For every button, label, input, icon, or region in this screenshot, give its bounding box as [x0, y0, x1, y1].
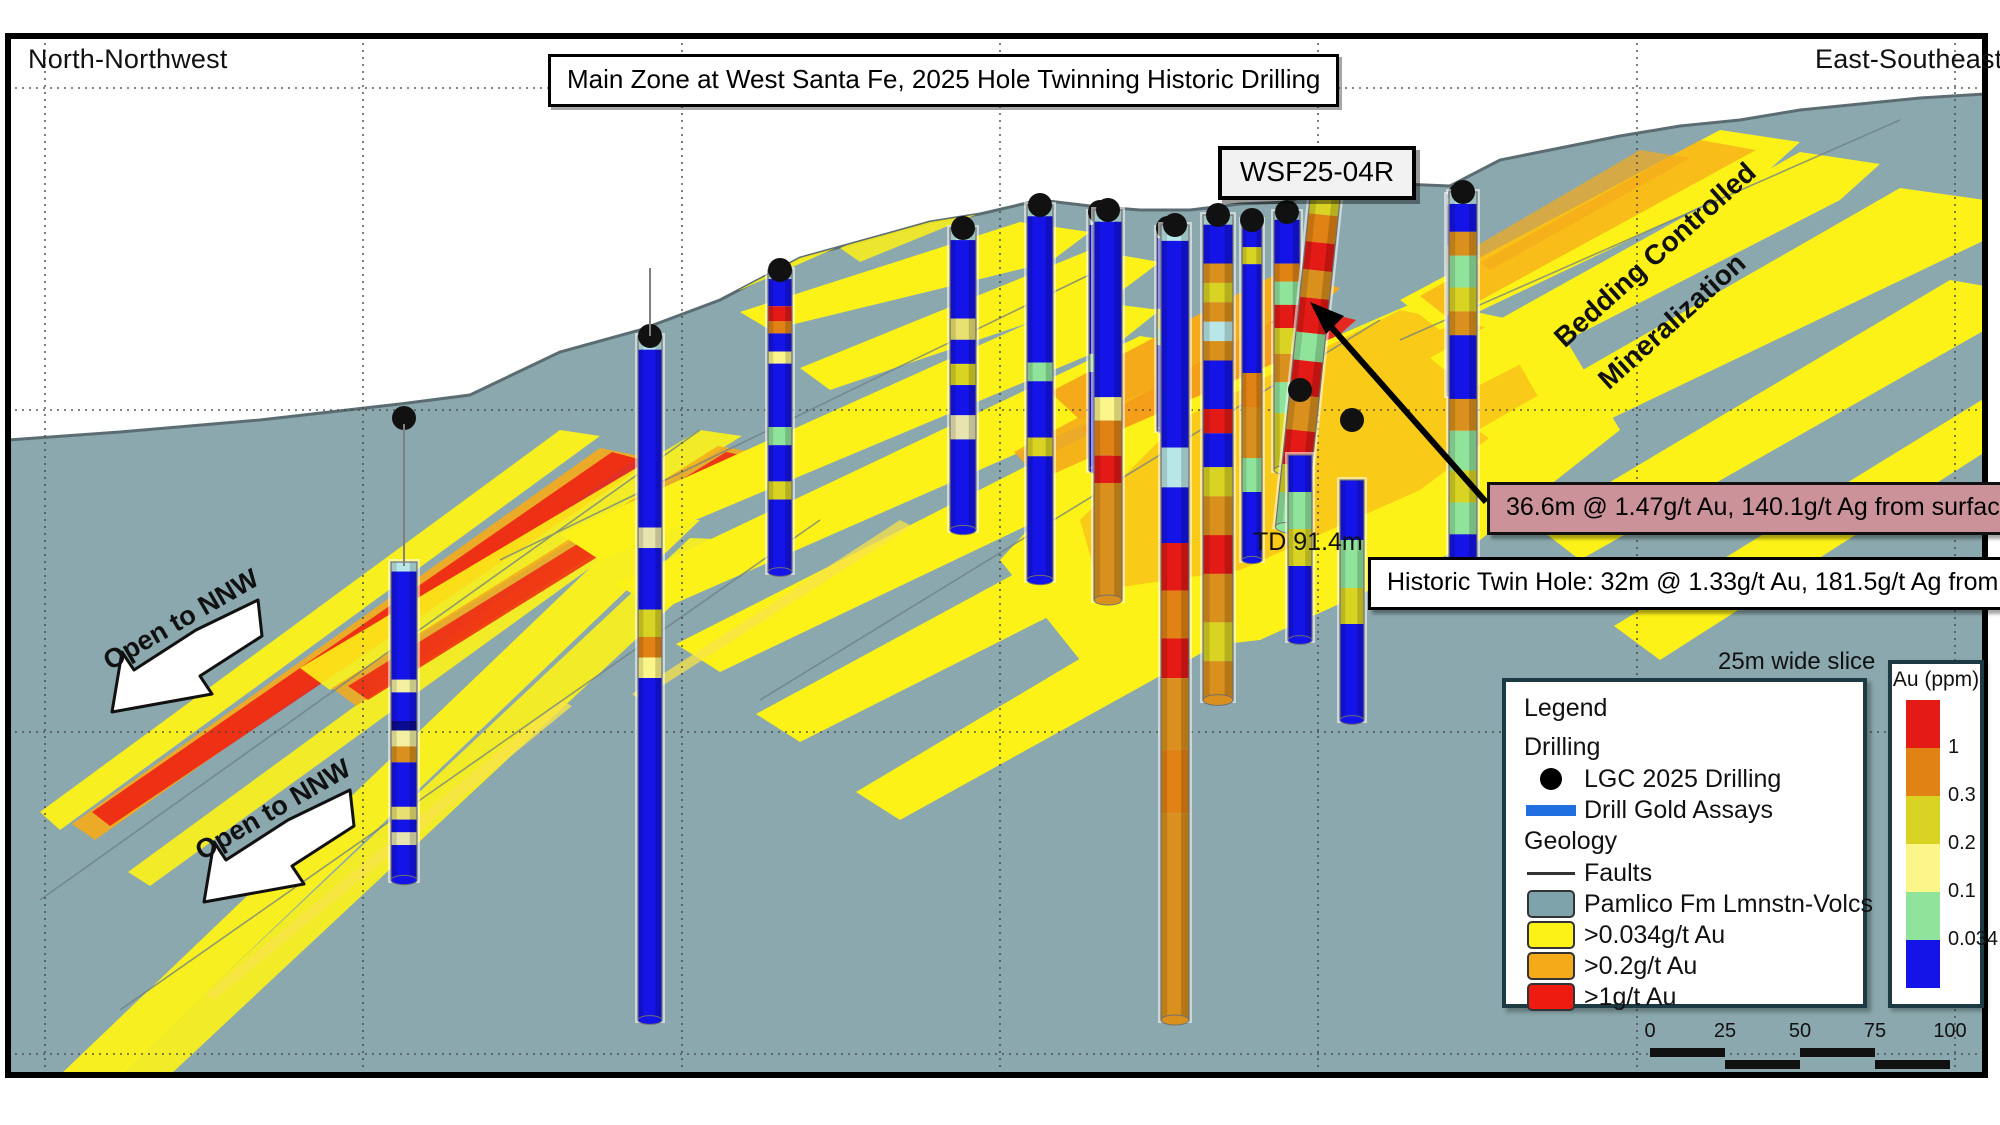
legend-item-faults: Faults: [1524, 858, 1863, 888]
drill-collar-marker: [1340, 408, 1364, 432]
scale-bar-tick-segment: [1800, 1048, 1875, 1057]
colorbar-segment: [1906, 844, 1940, 892]
drill-hole-trace: [1337, 477, 1367, 724]
colorbar-tick-label: 0.034: [1948, 928, 1998, 951]
scale-bar-label: 75: [1864, 1020, 1886, 1043]
legend-group-geology-title: Geology: [1524, 827, 1863, 856]
colorbar-tick-label: 0.2: [1948, 832, 1976, 855]
drill-collar-marker: [1240, 208, 1264, 232]
legend-item-au-1: >1g/t Au: [1524, 982, 1863, 1012]
drill-hole-trace: [1200, 212, 1236, 705]
legend-item-label: Pamlico Fm Lmnstn-Volcs: [1584, 890, 1873, 919]
colorbar-strip: [1906, 700, 1940, 988]
hole-id-label: WSF25-04R: [1218, 146, 1416, 200]
legend-heading: Legend: [1524, 694, 1863, 723]
legend-item-label: >0.2g/t Au: [1584, 952, 1697, 981]
au-colorbar-panel: Au (ppm) 10.30.20.10.034: [1888, 660, 1984, 1008]
drill-hole-trace: [1239, 217, 1265, 564]
legend-item-drill-gold-assays: Drill Gold Assays: [1524, 795, 1863, 825]
scale-bar-tick-segment: [1725, 1060, 1800, 1069]
scale-bar-label: 50: [1789, 1020, 1811, 1043]
pamlico-swatch-icon: [1524, 890, 1578, 918]
scale-bar-tick-segment: [1875, 1060, 1950, 1069]
new-intercept-callout: 36.6m @ 1.47g/t Au, 140.1g/t Ag from sur…: [1487, 482, 2000, 535]
drill-collar-marker: [951, 216, 975, 240]
drill-hole-trace: [388, 559, 420, 885]
figure-title: Main Zone at West Santa Fe, 2025 Hole Tw…: [548, 54, 1339, 107]
au-1-swatch-icon: [1524, 983, 1578, 1011]
drill-collar-marker: [1163, 213, 1187, 237]
colorbar-title: Au (ppm): [1892, 668, 1980, 692]
legend-item-label: >1g/t Au: [1584, 983, 1676, 1012]
compass-label-left: North-Northwest: [28, 44, 228, 75]
drill-hole-trace: [635, 333, 665, 1024]
drill-hole-trace: [1091, 207, 1125, 605]
scale-bar: 0255075100: [1650, 1020, 1970, 1080]
colorbar-segment: [1906, 700, 1940, 748]
drill-assay-bar-icon: [1524, 805, 1578, 816]
drill-collar-marker: [1288, 378, 1312, 402]
legend-item-label: Faults: [1584, 859, 1652, 888]
scale-bar-label: 0: [1644, 1020, 1655, 1043]
colorbar-segment: [1906, 796, 1940, 844]
compass-label-right: East-Southeast: [1815, 44, 2000, 75]
colorbar-segment: [1906, 748, 1940, 796]
legend-item-label: >0.034g/t Au: [1584, 921, 1725, 950]
slice-width-label: 25m wide slice: [1718, 648, 1875, 676]
total-depth-label: TD 91.4m: [1253, 528, 1363, 557]
cross-section-figure: North-Northwest East-Southeast Main Zone…: [0, 0, 2000, 1125]
colorbar-segment: [1906, 892, 1940, 940]
au-0034-swatch-icon: [1524, 921, 1578, 949]
legend-panel: Legend Drilling LGC 2025 Drilling Drill …: [1502, 678, 1867, 1008]
drill-collar-marker: [1206, 203, 1230, 227]
legend-item-pamlico-fm: Pamlico Fm Lmnstn-Volcs: [1524, 889, 1863, 919]
drill-collar-marker: [1275, 200, 1299, 224]
drill-hole-trace: [1446, 189, 1480, 595]
drill-hole-trace: [947, 225, 979, 535]
drill-collar-marker: [768, 258, 792, 282]
drill-hole-trace: [1024, 202, 1056, 585]
scale-bar-label: 100: [1933, 1020, 1966, 1043]
scale-bar-label: 25: [1714, 1020, 1736, 1043]
drill-collar-marker: [1451, 180, 1475, 204]
drill-collar-marker: [1028, 193, 1052, 217]
legend-group-drilling-title: Drilling: [1524, 733, 1863, 762]
drill-hole-trace: [1158, 222, 1192, 1025]
legend-item-au-0034: >0.034g/t Au: [1524, 920, 1863, 950]
colorbar-tick-label: 1: [1948, 736, 1959, 759]
fault-line-icon: [1524, 872, 1578, 875]
scale-bar-tick-segment: [1650, 1048, 1725, 1057]
legend-item-au-02: >0.2g/t Au: [1524, 951, 1863, 981]
au-02-swatch-icon: [1524, 952, 1578, 980]
legend-item-lgc-drilling: LGC 2025 Drilling: [1524, 764, 1863, 794]
colorbar-tick-label: 0.3: [1948, 784, 1976, 807]
lgc-drilling-dot-icon: [1524, 768, 1578, 790]
historic-intercept-callout: Historic Twin Hole: 32m @ 1.33g/t Au, 18…: [1368, 557, 2000, 610]
colorbar-tick-label: 0.1: [1948, 880, 1976, 903]
drill-hole-trace: [765, 267, 795, 576]
legend-item-label: Drill Gold Assays: [1584, 796, 1773, 825]
colorbar-segment: [1906, 940, 1940, 988]
legend-item-label: LGC 2025 Drilling: [1584, 765, 1781, 794]
drill-collar-marker: [1096, 198, 1120, 222]
